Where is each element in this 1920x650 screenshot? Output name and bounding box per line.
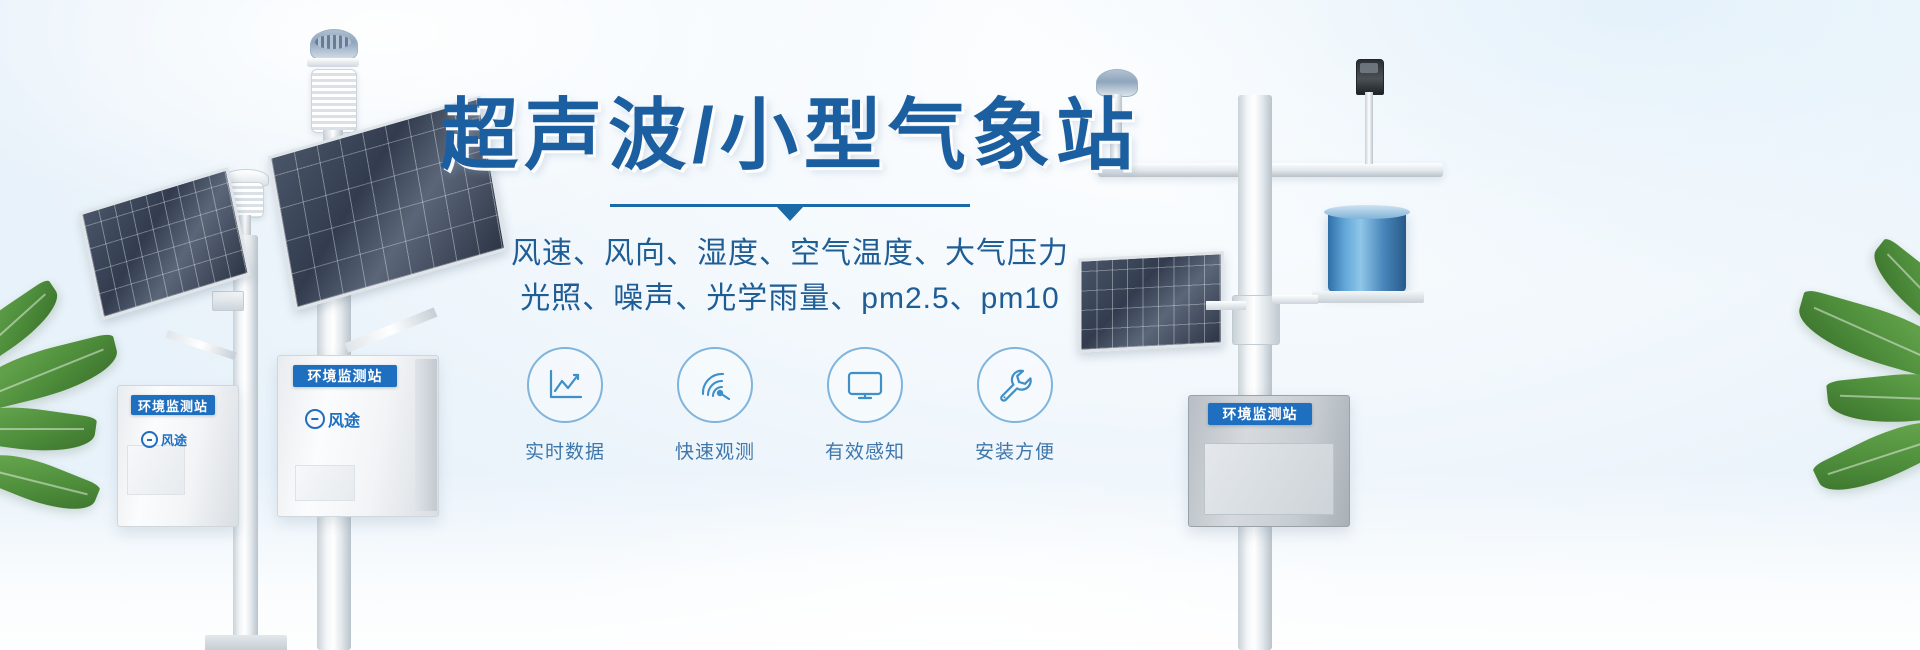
feature-label: 快速观测 [675, 437, 755, 464]
panel-support-strut [345, 307, 438, 352]
banner-headline: 超声波/小型气象站 [440, 96, 1140, 174]
brand-mark-icon [141, 431, 158, 448]
cabinet-door-seam [127, 445, 185, 495]
cabinet-nameplate: 环境监测站 [293, 365, 397, 387]
cabinet-panel-seam [1204, 443, 1334, 515]
cabinet-nameplate: 环境监测站 [131, 395, 215, 415]
brand-mark-icon [305, 409, 325, 429]
wrench-icon [977, 347, 1053, 423]
product-banner: 环境监测站 风途 环境监测站 风途 [0, 0, 1920, 650]
cabinet-side-face [415, 359, 437, 511]
radiation-shield-icon [311, 69, 357, 133]
sensor-collar [307, 58, 359, 67]
feature-item-realtime-data[interactable]: 实时数据 [519, 347, 611, 464]
brand-logo: 风途 [141, 430, 187, 449]
headline-divider [610, 204, 970, 207]
cabinet-nameplate-text: 环境监测站 [1223, 404, 1298, 424]
panel-support-strut [166, 330, 237, 360]
cabinet-vent [295, 465, 355, 501]
feature-label: 安装方便 [975, 437, 1055, 464]
subtitle-line-2: 光照、噪声、光学雨量、pm2.5、pm10 [511, 276, 1069, 321]
leaf-shape [0, 441, 101, 523]
caret-down-icon [777, 207, 803, 221]
brand-logo-text: 风途 [161, 430, 187, 449]
feature-list: 实时数据 快速观测 [519, 347, 1061, 464]
feature-item-fast-observation[interactable]: 快速观测 [669, 347, 761, 464]
brand-logo-text: 风途 [328, 407, 360, 431]
subtitle-line-1: 风速、风向、湿度、空气温度、大气压力 [511, 231, 1069, 276]
radar-signal-icon [677, 347, 753, 423]
feature-item-easy-installation[interactable]: 安装方便 [969, 347, 1061, 464]
feature-item-effective-sensing[interactable]: 有效感知 [819, 347, 911, 464]
panel-bracket [212, 291, 244, 311]
optical-sensor-lens-icon [1360, 63, 1378, 73]
cabinet-nameplate-text: 环境监测站 [308, 366, 383, 386]
line-chart-icon [527, 347, 603, 423]
rain-gauge-icon [1328, 210, 1406, 292]
panel-arm [1206, 301, 1246, 310]
optical-sensor-stem [1365, 92, 1373, 164]
leaf-shape [1826, 366, 1920, 429]
rain-gauge-arm [1272, 295, 1318, 304]
rain-gauge-shelf [1312, 291, 1424, 303]
feature-label: 实时数据 [525, 437, 605, 464]
brand-logo: 风途 [305, 407, 360, 431]
mast-pole [1238, 95, 1272, 650]
banner-subtitle-list: 风速、风向、湿度、空气温度、大气压力 光照、噪声、光学雨量、pm2.5、pm10 [511, 231, 1069, 321]
leaf-shape [1791, 288, 1920, 383]
sensor-transducer-array-icon [315, 35, 351, 49]
cabinet-nameplate: 环境监测站 [1208, 403, 1312, 425]
leaf-shape [0, 399, 97, 459]
rain-gauge-funnel-rim [1324, 205, 1410, 219]
banner-content: 超声波/小型气象站 风速、风向、湿度、空气温度、大气压力 光照、噪声、光学雨量、… [440, 96, 1140, 496]
monitor-screen-icon [827, 347, 903, 423]
feature-label: 有效感知 [825, 437, 905, 464]
cabinet-nameplate-text: 环境监测站 [138, 396, 208, 415]
